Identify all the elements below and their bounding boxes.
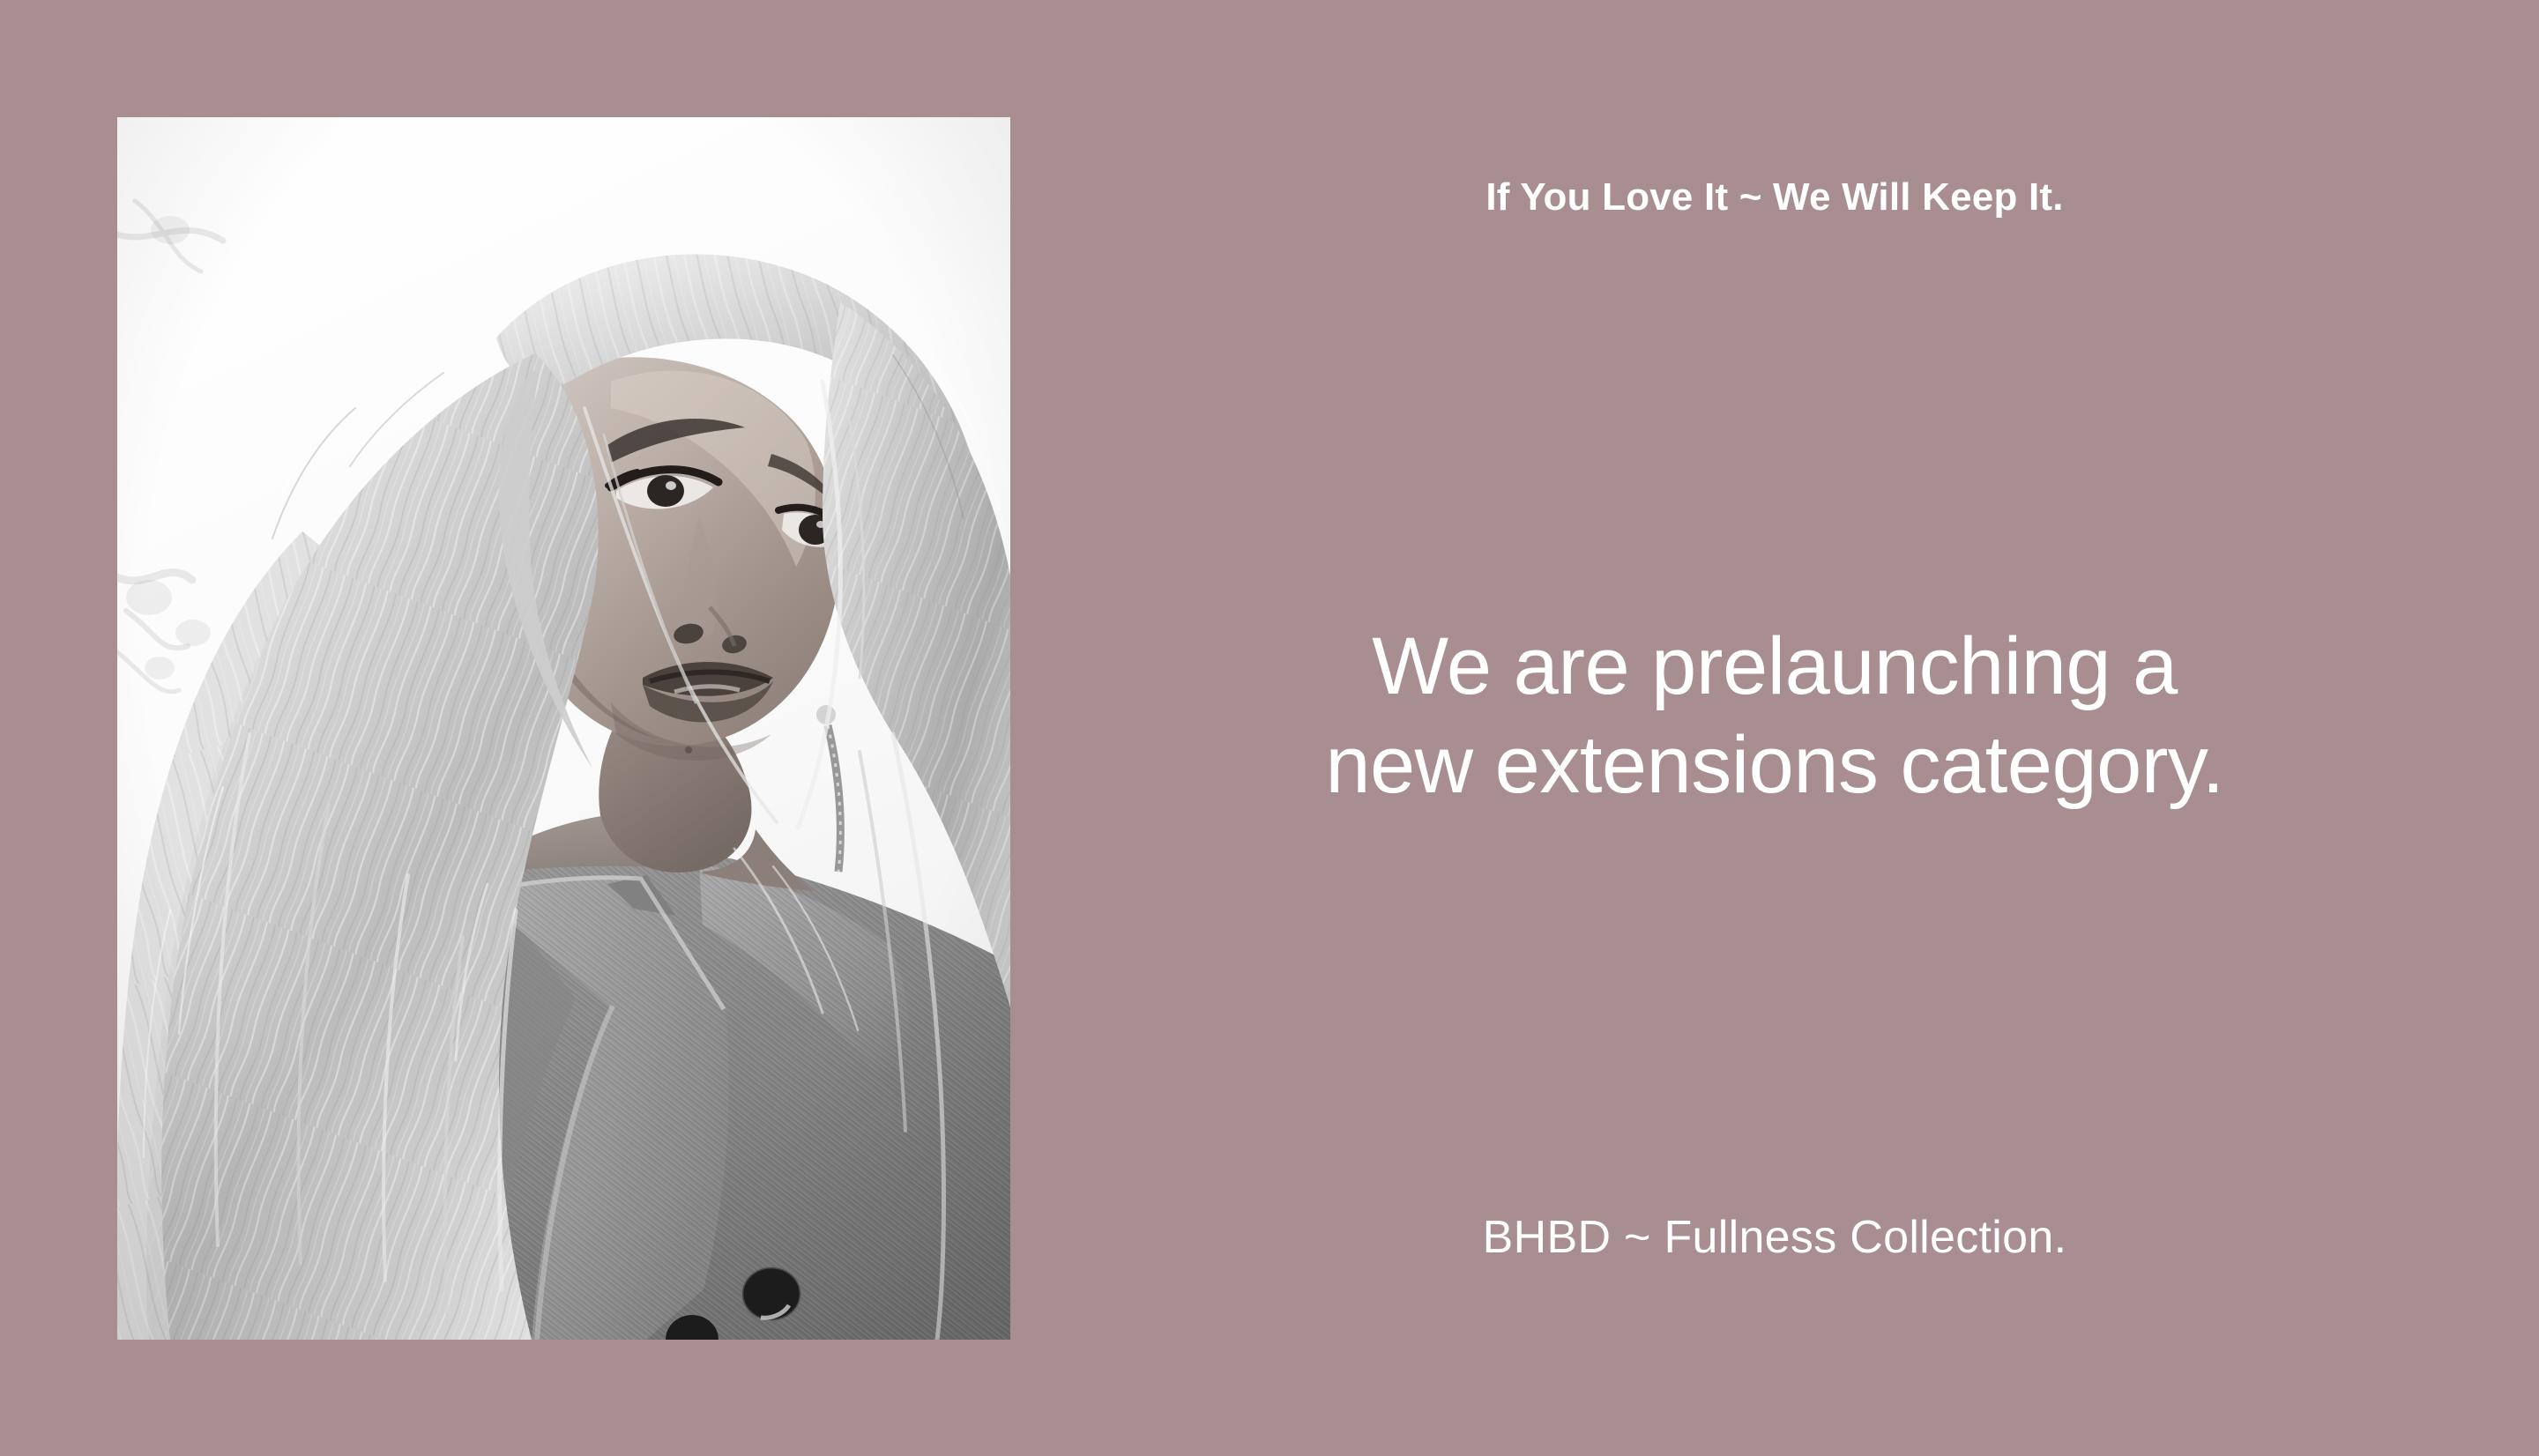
headline-line-2: new extensions category.: [1010, 716, 2539, 814]
headline-line-1: We are prelaunching a: [1010, 617, 2539, 716]
tagline: If You Love It ~ We Will Keep It.: [1010, 175, 2539, 221]
portrait-illustration: [117, 117, 1010, 1340]
page-title: We are prelaunching a new extensions cat…: [1010, 617, 2539, 814]
model-portrait-photo: [117, 117, 1010, 1340]
collection-label: BHBD ~ Fullness Collection.: [1010, 1210, 2539, 1265]
promo-slide: If You Love It ~ We Will Keep It. We are…: [0, 0, 2539, 1456]
text-column: If You Love It ~ We Will Keep It. We are…: [1010, 0, 2539, 1456]
